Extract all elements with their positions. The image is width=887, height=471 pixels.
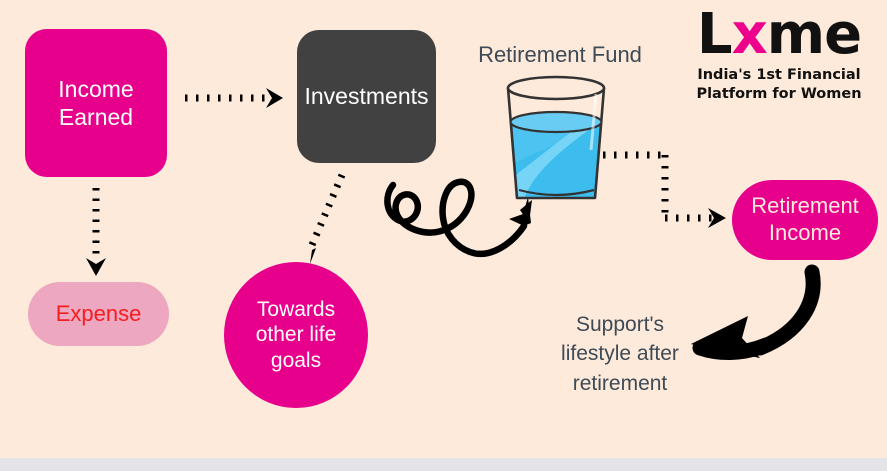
node-other-goals-line3: goals bbox=[256, 348, 337, 374]
label-support-lifestyle: Support's lifestyle after retirement bbox=[532, 310, 708, 398]
node-other-goals-line2: other life bbox=[256, 322, 337, 348]
node-retirement-income-line1: Retirement bbox=[751, 193, 859, 220]
node-retirement-income[interactable]: Retirement Income bbox=[732, 180, 878, 260]
connector-investments-to-other-goals bbox=[296, 175, 342, 264]
logo-word-part2: me bbox=[767, 2, 861, 67]
logo-word-part1: L bbox=[697, 2, 732, 67]
logo-x-glyph: x bbox=[732, 2, 767, 67]
glass-of-water-icon bbox=[500, 77, 615, 210]
node-investments-label: Investments bbox=[305, 82, 429, 110]
logo-tagline-line1: India's 1st Financial bbox=[684, 66, 874, 85]
logo-wordmark: Lxme bbox=[684, 4, 874, 66]
node-towards-other-life-goals[interactable]: Towards other life goals bbox=[224, 262, 368, 408]
logo-tagline-line2: Platform for Women bbox=[684, 85, 874, 104]
label-support-line1: Support's bbox=[532, 310, 708, 339]
connector-investments-to-retirement-fund bbox=[387, 182, 532, 254]
node-income-earned-line2: Earned bbox=[58, 103, 133, 131]
node-investments[interactable]: Investments bbox=[297, 30, 436, 163]
node-other-goals-line1: Towards bbox=[256, 297, 337, 323]
node-income-earned[interactable]: Income Earned bbox=[25, 29, 167, 177]
lxme-logo[interactable]: Lxme India's 1st Financial Platform for … bbox=[684, 4, 874, 108]
node-income-earned-line1: Income bbox=[58, 75, 133, 103]
diagram-canvas: Income Earned Investments Expense Toward… bbox=[0, 0, 887, 458]
label-retirement-fund: Retirement Fund bbox=[462, 42, 658, 68]
connector-retirement-fund-to-retirement-income bbox=[603, 155, 726, 228]
node-expense[interactable]: Expense bbox=[28, 282, 169, 346]
node-retirement-income-line2: Income bbox=[751, 220, 859, 247]
label-support-line3: retirement bbox=[532, 369, 708, 398]
node-expense-label: Expense bbox=[56, 301, 142, 328]
label-support-line2: lifestyle after bbox=[532, 339, 708, 368]
connector-income-to-investments bbox=[185, 88, 283, 108]
connector-income-to-expense bbox=[86, 188, 106, 276]
window-bottom-strip bbox=[0, 458, 887, 471]
connector-retirement-income-to-support-text bbox=[691, 272, 813, 358]
